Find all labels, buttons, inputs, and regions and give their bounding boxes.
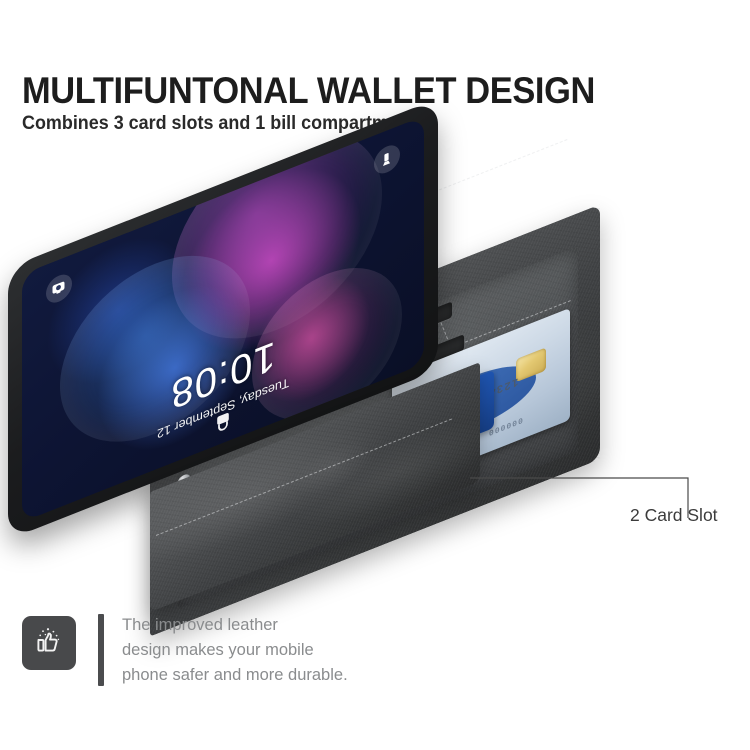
thumbs-up-icon (22, 616, 76, 670)
feature-line: design makes your mobile (122, 638, 348, 663)
feature-divider (98, 614, 104, 686)
feature-line: phone safer and more durable. (122, 663, 348, 688)
feature-text: The improved leather design makes your m… (122, 612, 348, 688)
product-feature-slide: MULTIFUNTONAL WALLET DESIGN Combines 3 c… (0, 0, 750, 750)
callout-label: 2 Card Slot (630, 505, 718, 526)
feature-block: The improved leather design makes your m… (22, 612, 348, 688)
feature-line: The improved leather (122, 613, 348, 638)
flashlight-icon[interactable] (374, 141, 400, 177)
camera-icon[interactable] (46, 270, 72, 306)
page-title: MULTIFUNTONAL WALLET DESIGN (22, 70, 595, 112)
